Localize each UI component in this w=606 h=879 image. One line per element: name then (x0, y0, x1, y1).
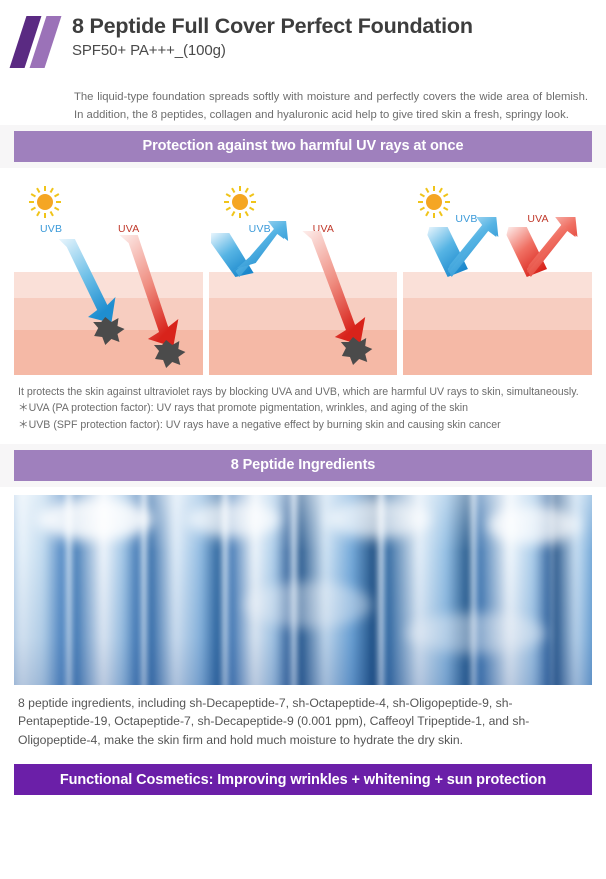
uv-panel-group: UVB UVA (14, 177, 592, 375)
uv-panel-partial-protection: UVB UVA (209, 177, 398, 375)
laboratory-glassware-photo (14, 495, 592, 685)
double-slash-logo-icon (14, 16, 60, 68)
uv-panel-unprotected: UVB UVA (14, 177, 203, 375)
uv-rays-diagram (209, 177, 398, 375)
uv-panel-full-protection: UVB UVA (403, 177, 592, 375)
uv-note-line-1: It protects the skin against ultraviolet… (18, 384, 586, 401)
uva-arrow-penetrating (302, 231, 365, 345)
page-title: 8 Peptide Full Cover Perfect Foundation (72, 14, 473, 39)
intro-paragraph: The liquid-type foundation spreads softl… (74, 88, 588, 125)
uv-illustration-section: UVB UVA (0, 168, 606, 375)
uva-arrow-penetrating (119, 235, 178, 347)
uva-arrow-blocked (507, 217, 578, 277)
uv-note-line-2: ＊UVA (PA protection factor): UV rays tha… (18, 400, 586, 417)
uvb-arrow-blocked (211, 221, 288, 277)
uvb-arrow-blocked (428, 217, 499, 277)
footer-banner-wrap: Functional Cosmetics: Improving wrinkles… (0, 755, 606, 804)
uv-section-banner: Protection against two harmful UV rays a… (14, 131, 592, 162)
lab-image-section (0, 487, 606, 685)
ingredients-description: 8 peptide ingredients, including sh-Deca… (0, 685, 606, 756)
blemish-star-uvb (93, 317, 124, 345)
uv-rays-diagram (14, 177, 203, 375)
ingredients-section-banner: 8 Peptide Ingredients (14, 450, 592, 481)
lab-photo-sheen (14, 495, 592, 685)
uvb-arrow-penetrating (59, 239, 116, 323)
uv-explanation-block: It protects the skin against ultraviolet… (0, 375, 606, 444)
functional-cosmetics-banner: Functional Cosmetics: Improving wrinkles… (14, 764, 592, 795)
ingredients-body: 8 peptide ingredients, including sh-Deca… (18, 694, 586, 750)
page-header: 8 Peptide Full Cover Perfect Foundation … (0, 0, 606, 78)
blemish-star-uva (154, 340, 185, 368)
blemish-star-uva (341, 337, 372, 365)
uv-note-line-3: ＊UVB (SPF protection factor): UV rays ha… (18, 417, 586, 434)
ingredients-banner-wrap: 8 Peptide Ingredients (0, 444, 606, 487)
title-block: 8 Peptide Full Cover Perfect Foundation … (72, 14, 473, 59)
uv-rays-diagram (403, 177, 592, 375)
product-subtitle: SPF50+ PA+++_(100g) (72, 42, 473, 59)
uv-banner-wrap: Protection against two harmful UV rays a… (0, 125, 606, 168)
